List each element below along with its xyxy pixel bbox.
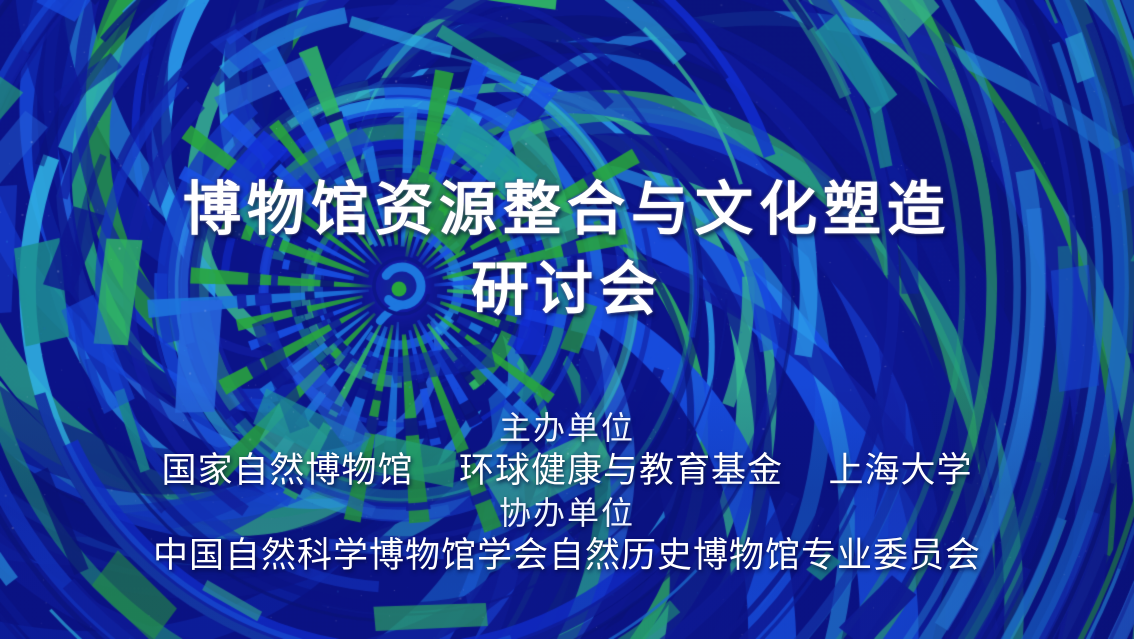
poster-canvas: 博物馆资源整合与文化塑造 研讨会 主办单位 国家自然博物馆 环球健康与教育基金 … — [0, 0, 1134, 639]
poster-text-layer: 博物馆资源整合与文化塑造 研讨会 主办单位 国家自然博物馆 环球健康与教育基金 … — [0, 0, 1134, 639]
event-title-line-2: 研讨会 — [0, 250, 1134, 330]
cohost-heading: 协办单位 — [0, 493, 1134, 534]
event-title: 博物馆资源整合与文化塑造 研讨会 — [0, 170, 1134, 330]
host-names: 国家自然博物馆 环球健康与教育基金 上海大学 — [0, 449, 1134, 493]
host-name-1: 国家自然博物馆 — [161, 451, 413, 490]
host-name-2: 环球健康与教育基金 — [459, 451, 783, 490]
cohost-names: 中国自然科学博物馆学会自然历史博物馆专业委员会 — [0, 534, 1134, 578]
cohost-name-1: 中国自然科学博物馆学会自然历史博物馆专业委员会 — [153, 536, 981, 575]
organizer-block: 主办单位 国家自然博物馆 环球健康与教育基金 上海大学 协办单位 中国自然科学博… — [0, 408, 1134, 578]
host-name-3: 上海大学 — [829, 451, 973, 490]
event-title-line-1: 博物馆资源整合与文化塑造 — [0, 170, 1134, 250]
host-heading: 主办单位 — [0, 408, 1134, 449]
